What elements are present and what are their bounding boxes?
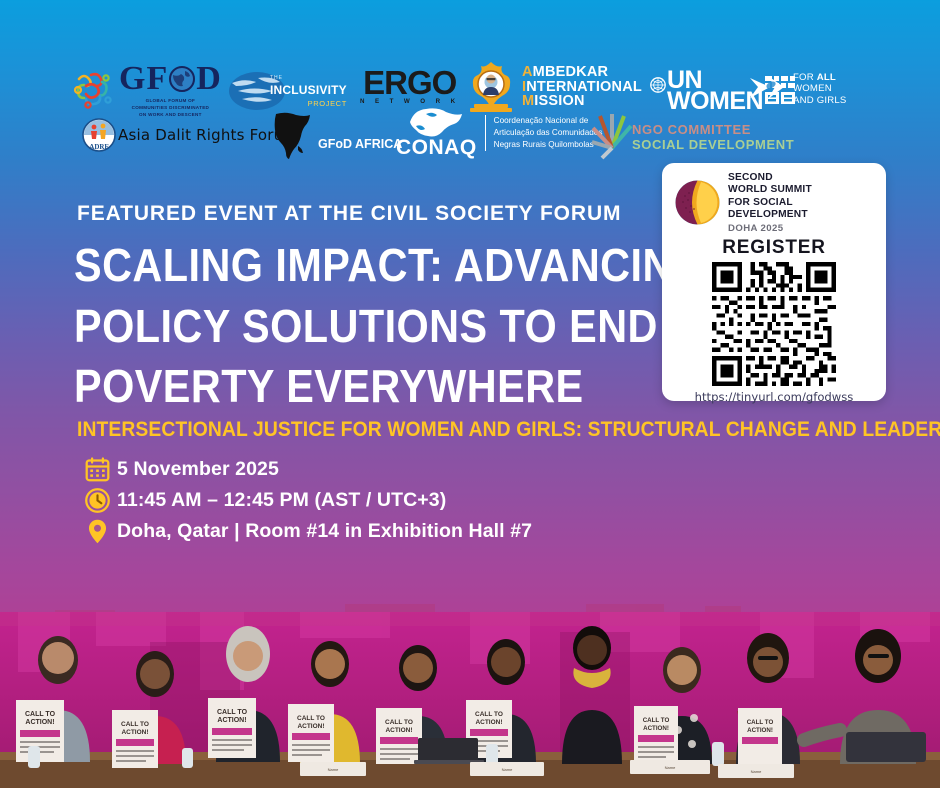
- event-location-text: Doha, Qatar | Room #14 in Exhibition Hal…: [117, 520, 532, 543]
- svg-text:ADRF: ADRF: [89, 143, 108, 151]
- ambedkar-line-1: AMBEDKAR: [522, 65, 642, 80]
- svg-text:ACTION!: ACTION!: [385, 727, 412, 734]
- summit-line-2: WORLD SUMMIT: [728, 184, 812, 196]
- svg-text:CALL TO: CALL TO: [25, 711, 56, 718]
- ergo-sub: N E T W O R K: [360, 98, 459, 105]
- qr-code[interactable]: [662, 262, 886, 386]
- conaq-wordmark: CONAQ: [396, 136, 477, 160]
- inclusivity-sub: PROJECT: [270, 99, 347, 108]
- svg-text:ACTION!: ACTION!: [25, 719, 54, 726]
- event-details: 5 November 2025 11:45 AM – 12:45 PM (AST…: [84, 455, 532, 548]
- event-detail-date: 5 November 2025: [84, 455, 532, 484]
- summit-branding: SECOND WORLD SUMMIT FOR SOCIAL DEVELOPME…: [662, 163, 886, 234]
- partner-logo-ergo-network: ERGO N E T W O R K: [360, 68, 459, 105]
- gfod-wordmark-part2: D: [196, 62, 222, 96]
- gfod-wordmark-part1: GF: [119, 62, 168, 96]
- event-date-text: 5 November 2025: [117, 458, 279, 481]
- eyebrow-text: FEATURED EVENT AT THE CIVIL SOCIETY FORU…: [77, 202, 621, 226]
- svg-text:Name: Name: [328, 767, 339, 772]
- title-line-3: POVERTY EVERYWHERE: [74, 356, 614, 417]
- summit-location-year: DOHA 2025: [728, 223, 812, 234]
- register-url[interactable]: https://tinyurl.com/gfodwss: [662, 390, 886, 404]
- calendar-icon: [84, 456, 111, 483]
- svg-text:CALL TO: CALL TO: [385, 719, 413, 726]
- gfod-africa-wordmark: GFoD AFRICA: [318, 137, 402, 151]
- gfod-tagline: GLOBAL FORUM OFCOMMUNITIES DISCRIMINATED…: [132, 98, 210, 119]
- partner-logo-asia-dalit-rights-forum: ADRF Asia Dalit Rights Forum: [82, 118, 298, 152]
- svg-text:CALL TO: CALL TO: [297, 715, 325, 722]
- ngo-committee-line-2: SOCIAL DEVELOPMENT: [632, 138, 794, 153]
- un-emblem-icon: [650, 77, 666, 93]
- svg-text:ACTION!: ACTION!: [643, 725, 669, 732]
- fawg-line-3: AND GIRLS: [793, 95, 847, 106]
- for-all-women-and-girls-wordmark: FOR ALL WOMEN AND GIRLS: [793, 72, 847, 106]
- summit-line-4: DEVELOPMENT: [728, 209, 812, 221]
- summit-line-1: SECOND: [728, 172, 812, 184]
- ngo-committee-line-1: NGO COMMITTEE: [632, 123, 794, 138]
- subtitle: INTERSECTIONAL JUSTICE FOR WOMEN AND GIR…: [77, 418, 940, 442]
- ambedkar-wordmark: AMBEDKAR INTERNATIONAL MISSION: [522, 65, 642, 109]
- location-pin-icon: [84, 518, 111, 545]
- event-detail-time: 11:45 AM – 12:45 PM (AST / UTC+3): [84, 486, 532, 515]
- for-all-women-and-girls-arrow-logo: [748, 74, 788, 104]
- partner-logo-ngo-committee: NGO COMMITTEE SOCIAL DEVELOPMENT: [586, 108, 794, 160]
- partner-logo-inclusivity-project: THE INCLUSIVITY PROJECT: [228, 70, 347, 112]
- svg-text:CALL TO: CALL TO: [643, 717, 670, 724]
- partner-logos: GF D GLOBAL FORUM OFCOMMUNITIES DISCRIMI…: [0, 58, 940, 166]
- inclusivity-small-label: THE: [270, 75, 347, 81]
- register-label: REGISTER: [662, 237, 886, 259]
- africa-continent-silhouette-icon: [268, 110, 316, 160]
- clock-icon: [84, 487, 111, 514]
- gfod-people-globe-logo: [72, 70, 114, 110]
- summit-line-3: FOR SOCIAL: [728, 197, 812, 209]
- svg-text:ACTION!: ACTION!: [475, 719, 502, 726]
- svg-text:CALL TO: CALL TO: [747, 719, 774, 726]
- event-poster: GF D GLOBAL FORUM OFCOMMUNITIES DISCRIMI…: [0, 0, 940, 788]
- svg-text:Name: Name: [502, 767, 513, 772]
- register-card[interactable]: SECOND WORLD SUMMIT FOR SOCIAL DEVELOPME…: [662, 163, 886, 401]
- svg-text:ACTION!: ACTION!: [121, 729, 148, 736]
- svg-text:CALL TO: CALL TO: [121, 721, 149, 728]
- ngo-committee-starburst-logo: [586, 108, 638, 160]
- event-time-text: 11:45 AM – 12:45 PM (AST / UTC+3): [117, 489, 446, 512]
- ergo-wordmark: ERGO: [363, 68, 456, 98]
- title-line-1: SCALING IMPACT: ADVANCING: [74, 235, 614, 296]
- fawg-line-1: FOR ALL: [793, 72, 847, 83]
- svg-text:ACTION!: ACTION!: [747, 727, 773, 734]
- svg-text:ACTION!: ACTION!: [297, 723, 324, 730]
- fawg-line-2: WOMEN: [793, 83, 847, 94]
- svg-text:CALL TO: CALL TO: [475, 711, 503, 718]
- event-detail-location: Doha, Qatar | Room #14 in Exhibition Hal…: [84, 517, 532, 546]
- partner-logo-gfod-africa: GFoD AFRICA: [268, 110, 402, 160]
- title-line-2: POLICY SOLUTIONS TO END: [74, 296, 614, 357]
- panel-photo: CALL TOACTION! CALL TOACTION! CALL TOACT…: [0, 612, 940, 788]
- page-title: SCALING IMPACT: ADVANCING POLICY SOLUTIO…: [74, 235, 614, 417]
- svg-text:Name: Name: [751, 769, 762, 774]
- partner-logo-gfod: GF D GLOBAL FORUM OFCOMMUNITIES DISCRIMI…: [72, 62, 222, 119]
- qr-code-image[interactable]: [712, 262, 836, 386]
- globe-icon: [169, 66, 195, 92]
- svg-text:Name: Name: [665, 765, 676, 770]
- svg-text:CALL TO: CALL TO: [217, 709, 248, 716]
- partner-logo-for-all-women-and-girls: FOR ALL WOMEN AND GIRLS: [748, 72, 847, 106]
- svg-text:ACTION!: ACTION!: [217, 717, 246, 724]
- ambedkar-line-2: INTERNATIONAL: [522, 80, 642, 95]
- world-summit-logo-icon: [674, 179, 721, 226]
- partner-logo-conaq: CONAQ Coordenação Nacional de Articulaçã…: [396, 106, 602, 160]
- inclusivity-wordmark: INCLUSIVITY: [270, 83, 347, 97]
- adrf-circle-logo: ADRF: [82, 118, 116, 152]
